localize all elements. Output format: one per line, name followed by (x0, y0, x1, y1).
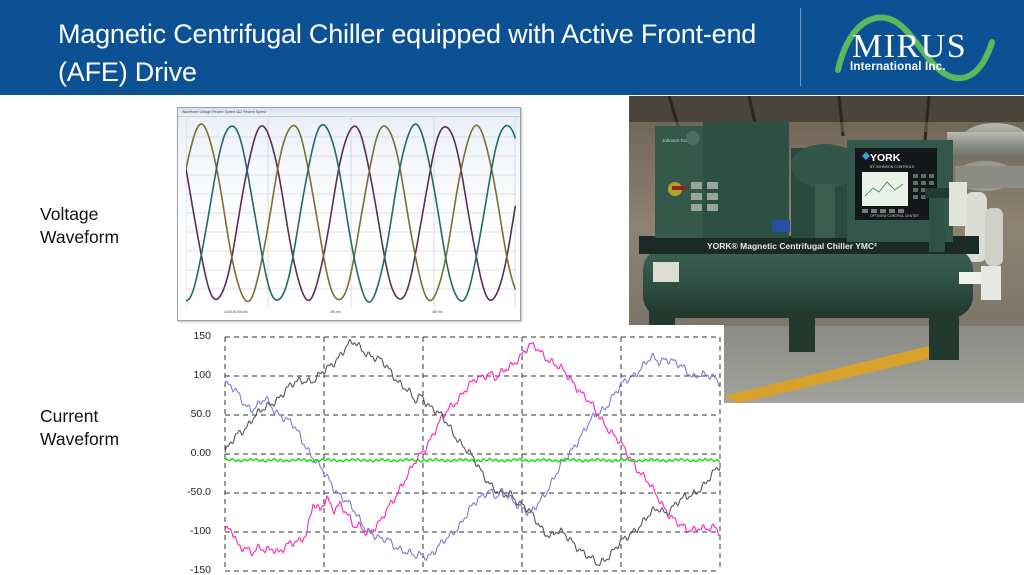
current-chart-gridlines (225, 337, 720, 571)
voltage-chart-caption: Waveform Voltage Recent Speed 1&2 Recent… (178, 108, 520, 117)
current-waveform-label: Current Waveform (40, 405, 170, 451)
photo-tag-left (653, 262, 679, 282)
current-chart-ytick: 100 (177, 369, 211, 381)
voltage-waveform-chart: Waveform Voltage Recent Speed 1&2 Recent… (177, 107, 521, 321)
page-title: Magnetic Centrifugal Chiller equipped wi… (58, 15, 778, 91)
slide-header: Magnetic Centrifugal Chiller equipped wi… (0, 0, 1024, 95)
photo-equipment-label: YORK® Magnetic Centrifugal Chiller YMC² (707, 241, 877, 251)
voltage-chart-tick-3: 400 ms (432, 310, 442, 314)
photo-right-valve (929, 196, 945, 252)
current-chart-ytick: 50.0 (177, 408, 211, 420)
voltage-waveform-label: Voltage Waveform (40, 203, 170, 249)
photo-right-box (949, 182, 967, 226)
voltage-chart-tick-1: 14:00:00.000 ms (224, 310, 248, 314)
voltage-chart-tick-2: 200 ms (330, 310, 340, 314)
current-chart-inner: A 15010050.00.00-50.0-100-150 (163, 327, 722, 573)
current-chart-plot (163, 327, 724, 575)
current-chart-ytick: 0.00 (177, 447, 211, 459)
mirus-logo-subtitle: International Inc. (850, 61, 946, 73)
current-waveform-chart: A 15010050.00.00-50.0-100-150 (161, 325, 724, 575)
photo-tag-right (981, 266, 1001, 300)
current-chart-ytick: 150 (177, 330, 211, 342)
current-chart-series-line (225, 353, 720, 560)
photo-york-brand: YORK (870, 152, 901, 164)
photo-blue-sticker (772, 220, 790, 232)
photo-york-brand-sub: BY JOHNSON CONTROLS (870, 165, 915, 169)
photo-optiview-footer: OPTIVIEW CONTROL CENTER (870, 214, 919, 218)
mirus-logo: MIRUS International Inc. (830, 8, 1010, 88)
slide: Magnetic Centrifugal Chiller equipped wi… (0, 0, 1024, 575)
photo-ceiling (629, 96, 1024, 122)
voltage-chart-plot (186, 118, 516, 308)
photo-chiller-shell (643, 248, 973, 318)
photo-optiview-screen (862, 172, 908, 206)
current-chart-series-line (225, 459, 720, 463)
mirus-logo-text: MIRUS (852, 30, 967, 64)
header-divider (800, 8, 801, 86)
current-chart-ytick: -100 (177, 525, 211, 537)
current-chart-ytick: -50.0 (177, 486, 211, 498)
current-chart-ytick: -150 (177, 564, 211, 575)
voltage-chart-footer: 14:00:00.000 ms 200 ms 400 ms (186, 309, 516, 318)
current-chart-series-line (225, 343, 720, 556)
